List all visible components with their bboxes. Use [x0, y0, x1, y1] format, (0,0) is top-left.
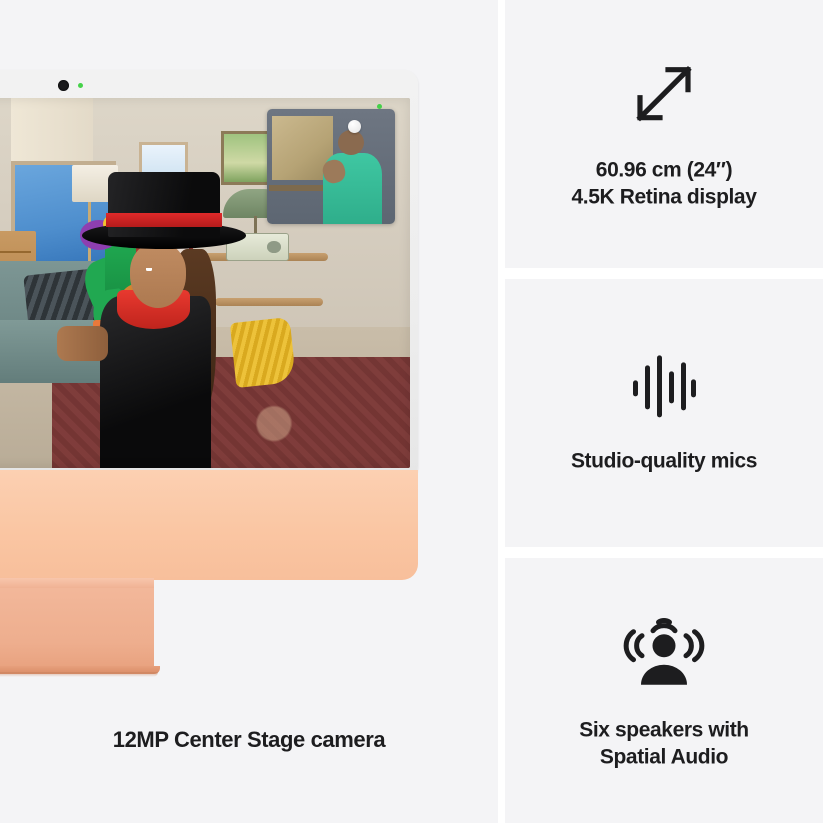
camera-active-led-icon [78, 83, 83, 88]
mics-feature-content: Studio-quality mics [505, 351, 823, 474]
audio-waveform-icon [523, 351, 805, 421]
panel-six-speakers-spatial-audio[interactable]: Six speakers with Spatial Audio [505, 558, 823, 823]
person-girl-magician [82, 172, 297, 468]
speakers-label-line2: Spatial Audio [523, 744, 805, 771]
imac-stand-shadow [0, 672, 158, 677]
panel-center-stage-camera[interactable]: 12MP Center Stage camera [0, 0, 498, 823]
panel-retina-display[interactable]: 60.96 cm (24″) 4.5K Retina display [505, 0, 823, 268]
imac-chin [0, 470, 418, 580]
imac-display-body [0, 70, 418, 480]
display-feature-label: 60.96 cm (24″) 4.5K Retina display [523, 157, 805, 212]
yellow-prop [230, 317, 297, 388]
camera-caption: 12MP Center Stage camera [0, 726, 498, 754]
display-label-line1: 60.96 cm (24″) [596, 159, 732, 182]
imac-stand-neck [0, 578, 154, 670]
person-woman-clapping [0, 194, 57, 468]
mics-label-line1: Studio-quality mics [571, 449, 757, 472]
girl-arm [57, 326, 109, 362]
imac-device [0, 70, 418, 670]
expand-diagonal-arrows-icon [523, 57, 805, 131]
speakers-feature-label: Six speakers with Spatial Audio [523, 716, 805, 771]
speakers-feature-content: Six speakers with Spatial Audio [505, 610, 823, 771]
display-label-line2: 4.5K Retina display [523, 184, 805, 211]
screen-status-led-icon [377, 104, 382, 109]
display-feature-content: 60.96 cm (24″) 4.5K Retina display [505, 57, 823, 212]
speakers-label-line1: Six speakers with [579, 718, 748, 741]
mics-feature-label: Studio-quality mics [523, 447, 805, 474]
girl-smile [146, 268, 152, 271]
camera-lens-icon [58, 80, 69, 91]
spatial-audio-person-icon [523, 610, 805, 690]
imac-screen [0, 98, 410, 468]
video-call-tile[interactable] [267, 109, 395, 224]
feature-grid: 12MP Center Stage camera 60.96 cm (24″) … [0, 0, 823, 823]
girl-face [130, 243, 186, 308]
top-hat-red-band [106, 213, 222, 226]
top-hat-crown [108, 172, 220, 237]
imac-stand-highlight [0, 578, 154, 588]
panel-studio-quality-mics[interactable]: Studio-quality mics [505, 279, 823, 547]
tile-person-head [338, 130, 364, 155]
